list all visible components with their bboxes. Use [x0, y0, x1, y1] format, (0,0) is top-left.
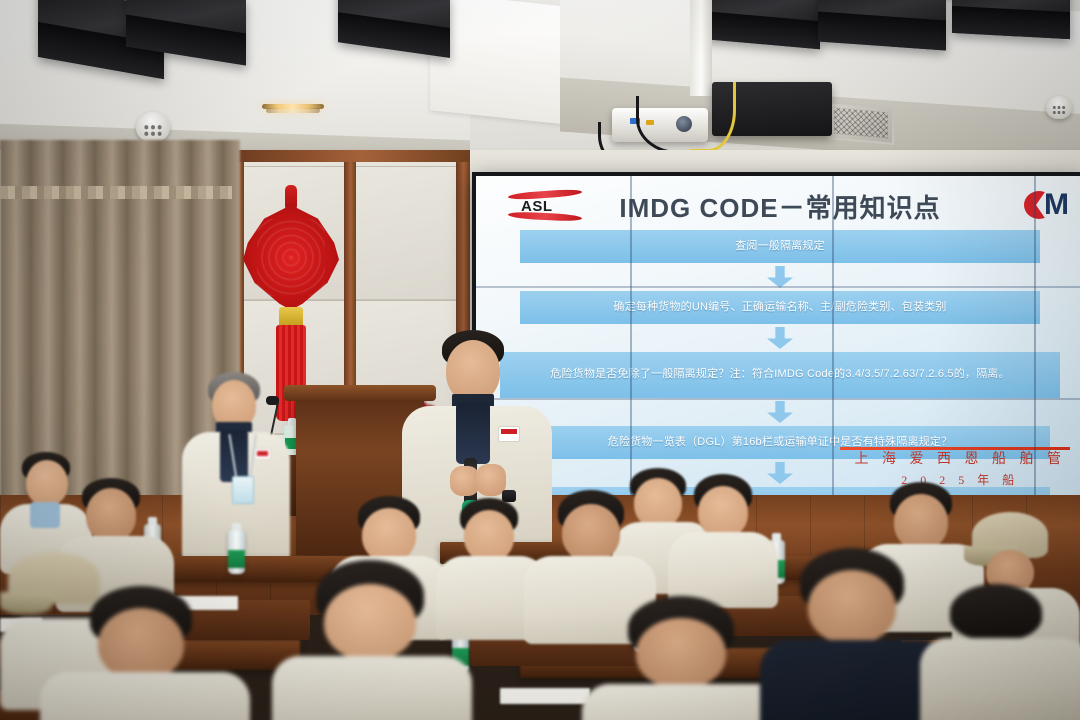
flow-step: 危险货物是否免除了一般隔离规定？注：符合IMDG Code的3.4/3.5/7.…	[500, 352, 1060, 398]
recessed-light-strip	[266, 108, 320, 113]
name-badge	[232, 476, 254, 504]
audience-member	[40, 586, 250, 720]
audience-member	[272, 560, 472, 720]
flow-arrow-down-icon	[767, 401, 793, 423]
flow-step: 查阅一般隔离规定	[520, 230, 1040, 263]
audience-member	[920, 584, 1080, 720]
presentation-slide: ASL IMDG CODE－常用知识点 M 查阅一般隔离规定 确定每种货物的UN…	[476, 176, 1080, 502]
video-wall[interactable]: ASL IMDG CODE－常用知识点 M 查阅一般隔离规定 确定每种货物的UN…	[472, 172, 1080, 502]
ceiling-ac-vent	[828, 101, 894, 145]
wall-wood-trim	[230, 150, 470, 162]
flow-step: 确定每种货物的UN编号、正确运输名称、主/副危险类别、包装类别	[520, 291, 1040, 324]
seminar-photo: ASL IMDG CODE－常用知识点 M 查阅一般隔离规定 确定每种货物的UN…	[0, 0, 1080, 720]
partner-logo: M	[1024, 190, 1080, 220]
smoke-detector	[136, 112, 170, 142]
jacket-logo-patch	[498, 426, 520, 442]
curtain-rod	[0, 186, 232, 199]
handout-paper	[500, 688, 590, 704]
slide-title: IMDG CODE－常用知识点	[476, 188, 1080, 225]
jacket-logo-patch	[254, 448, 271, 460]
flow-arrow-down-icon	[767, 327, 793, 349]
audience-member	[582, 596, 788, 720]
flow-arrow-down-icon	[767, 266, 793, 288]
ceiling-light-panel	[952, 0, 1070, 39]
logo-letter: M	[1044, 188, 1069, 222]
smoke-detector	[1046, 96, 1072, 119]
ceiling-light-panel	[818, 0, 946, 50]
water-bottle	[228, 530, 245, 574]
